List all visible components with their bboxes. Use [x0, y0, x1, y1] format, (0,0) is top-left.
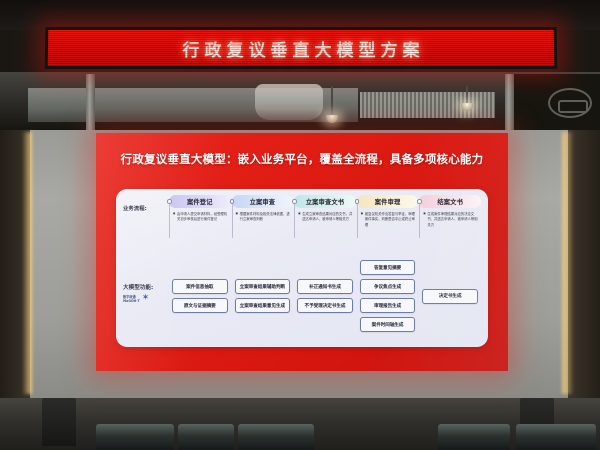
vendor-logo: 数字政通 MaGOH·T ✶ — [123, 294, 169, 303]
business-process-row: 业务流程: 案件登记 由申请人提交申请材料，经受理机关初步审核后进行案件登记 立… — [123, 195, 481, 247]
audience-chair — [238, 424, 314, 450]
pendant-light-right — [466, 86, 468, 104]
function-column-1: 案件信息抽取 原文与证据摘要 — [169, 250, 231, 342]
stage-description: 被复议机关作出答复与举证，审理案件事实，判断是否中止或终止审理 — [361, 212, 418, 228]
audience-chair — [438, 424, 510, 450]
function-card[interactable]: 立案审查结果辅助判断 — [235, 279, 291, 294]
function-card[interactable]: 答复意见摘要 — [360, 260, 416, 275]
stage-chip-label: 结案文书 — [419, 195, 481, 208]
function-column-5: 决定书生成 — [419, 250, 481, 342]
stage-node-icon — [230, 199, 235, 204]
process-stage-2[interactable]: 立案审查 根据案件材料及相关法律依据，进行立案审查判断 — [232, 195, 294, 247]
function-column-3: 补正通知书生成 不予受理决定书生成 — [294, 250, 356, 342]
stage-chip-label: 案件审理 — [357, 195, 419, 208]
slide-content-panel: 业务流程: 案件登记 由申请人提交申请材料，经受理机关初步审核后进行案件登记 立… — [116, 189, 488, 347]
audience-chair — [96, 424, 174, 450]
ceiling-vent-icon — [548, 88, 592, 118]
ceiling-duct — [255, 84, 323, 120]
led-banner-text: 行政复议垂直大模型方案 — [177, 36, 424, 61]
stage-connector-line — [169, 204, 170, 238]
stage-description: 生成立案审查结果对应的文书，并送达申请人、被申请人等相关方 — [298, 212, 355, 223]
stage-connector-line — [294, 204, 295, 238]
wall-accent-light-right — [562, 132, 574, 394]
ceiling-slat-panel — [360, 92, 495, 118]
function-card[interactable]: 不予受理决定书生成 — [297, 298, 353, 313]
stage-node-icon — [355, 199, 360, 204]
stage-connector-line — [232, 204, 233, 238]
function-card[interactable]: 案件信息抽取 — [172, 279, 228, 294]
process-stage-5[interactable]: 结案文书 生成案件审理结果对应的决定文书，并送达申请人、被申请人等相关方 — [419, 195, 481, 247]
ceiling-column-left — [86, 74, 95, 132]
function-card[interactable]: 争议焦点生成 — [360, 279, 416, 294]
vendor-logo-text: 数字政通 MaGOH·T — [123, 295, 140, 303]
slide-title: 行政复议垂直大模型：嵌入业务平台，覆盖全流程，具备多项核心能力 — [96, 151, 508, 167]
function-card-columns: 案件信息抽取 原文与证据摘要 立案审查结果辅助判断 立案审查结果意见生成 补正通… — [169, 250, 481, 342]
process-stage-list: 案件登记 由申请人提交申请材料，经受理机关初步审核后进行案件登记 立案审查 根据… — [169, 195, 481, 247]
wall-accent-light-left — [22, 132, 32, 394]
model-functions-row: 大模型功能: 数字政通 MaGOH·T ✶ 案件信息抽取 原文与证据摘要 立案审… — [123, 250, 481, 342]
process-stage-1[interactable]: 案件登记 由申请人提交申请材料，经受理机关初步审核后进行案件登记 — [169, 195, 231, 247]
pendant-light-left — [331, 86, 333, 116]
function-card[interactable]: 原文与证据摘要 — [172, 298, 228, 313]
audience-chair — [178, 424, 234, 450]
function-card[interactable]: 案件时间轴生成 — [360, 317, 416, 332]
stage-chip-label: 立案审查文书 — [294, 195, 356, 208]
stage-description: 生成案件审理结果对应的决定文书，并送达申请人、被申请人等相关方 — [423, 212, 480, 228]
function-card[interactable]: 补正通知书生成 — [297, 279, 353, 294]
presentation-screen: 行政复议垂直大模型：嵌入业务平台，覆盖全流程，具备多项核心能力 业务流程: 案件… — [96, 133, 508, 371]
function-column-4: 答复意见摘要 争议焦点生成 审理报告生成 案件时间轴生成 — [357, 250, 419, 342]
business-process-label: 业务流程: — [123, 195, 169, 247]
function-card[interactable]: 立案审查结果意见生成 — [235, 298, 291, 313]
function-card[interactable]: 决定书生成 — [422, 289, 478, 304]
stage-connector-line — [419, 204, 420, 238]
stage-chip-label: 案件登记 — [169, 195, 231, 208]
led-banner: 行政复议垂直大模型方案 — [45, 27, 558, 69]
stage-node-icon — [417, 199, 422, 204]
ceiling-dark-area — [0, 0, 600, 30]
function-column-2: 立案审查结果辅助判断 立案审查结果意见生成 — [232, 250, 294, 342]
stage-description: 根据案件材料及相关法律依据，进行立案审查判断 — [236, 212, 293, 223]
stage-node-icon — [292, 199, 297, 204]
function-card[interactable]: 审理报告生成 — [360, 298, 416, 313]
stage-chip-label: 立案审查 — [232, 195, 294, 208]
audience-chair — [516, 424, 596, 450]
model-functions-label: 大模型功能: — [123, 283, 169, 291]
process-stage-4[interactable]: 案件审理 被复议机关作出答复与举证，审理案件事实，判断是否中止或终止审理 — [357, 195, 419, 247]
stage-description: 由申请人提交申请材料，经受理机关初步审核后进行案件登记 — [173, 212, 230, 223]
stage-connector-line — [357, 204, 358, 238]
vendor-logo-mark-icon: ✶ — [142, 294, 150, 303]
process-stage-3[interactable]: 立案审查文书 生成立案审查结果对应的文书，并送达申请人、被申请人等相关方 — [294, 195, 356, 247]
speaker-left — [42, 398, 76, 446]
ceiling-column-right — [505, 74, 514, 132]
model-functions-label-group: 大模型功能: 数字政通 MaGOH·T ✶ — [123, 250, 169, 342]
stage-node-icon — [167, 199, 172, 204]
